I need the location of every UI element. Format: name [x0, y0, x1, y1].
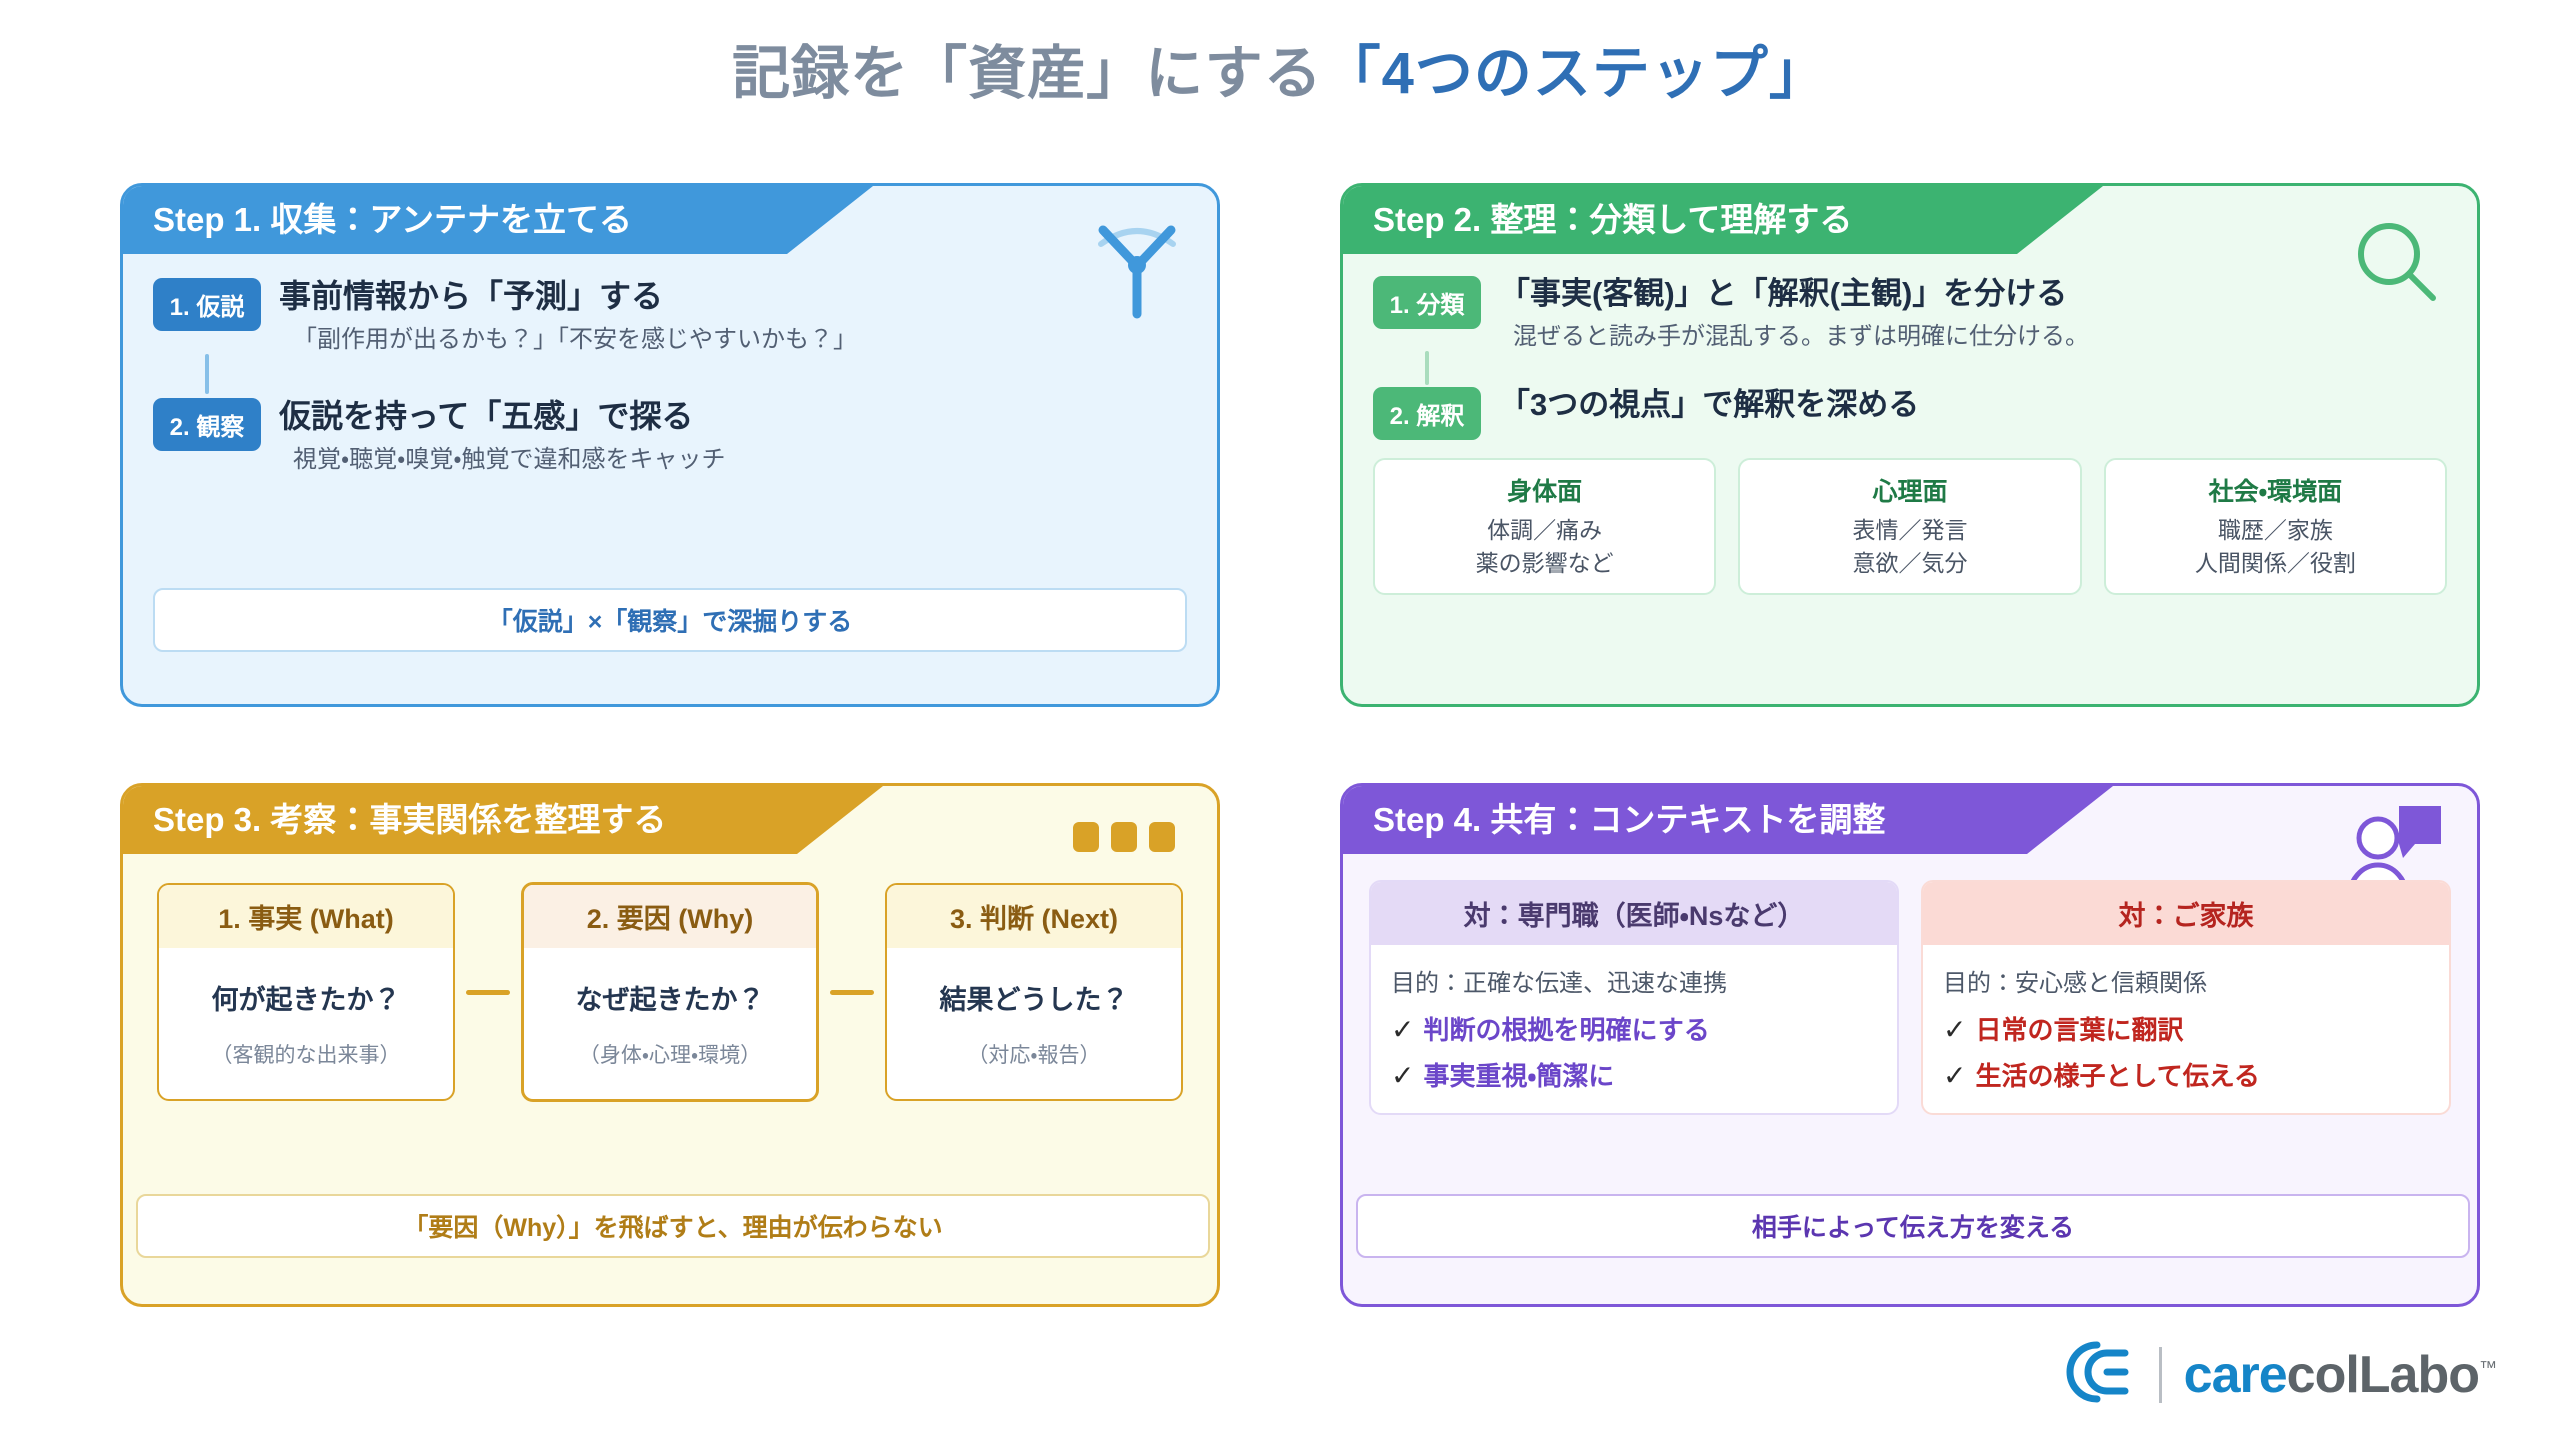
double-c-mark-icon	[2063, 1337, 2137, 1412]
perspective-line-1: 体調／痛み	[1381, 514, 1708, 547]
check-icon: ✓	[1391, 1013, 1414, 1046]
perspective-box-social: 社会・環境面 職歴／家族 人間関係／役割	[2104, 458, 2447, 595]
logo-divider	[2159, 1347, 2162, 1403]
page-title: 記録を「資産」にする「4つのステップ」	[0, 26, 2560, 110]
step-2-perspective-boxes: 身体面 体調／痛み 薬の影響など 心理面 表情／発言 意欲／気分 社会・環境面 …	[1373, 458, 2447, 595]
audience-body: 目的：安心感と信頼関係 ✓ 日常の言葉に翻訳 ✓ 生活の様子として伝える	[1923, 945, 2449, 1113]
audience-panel-family: 対：ご家族 目的：安心感と信頼関係 ✓ 日常の言葉に翻訳 ✓ 生活の様子として伝…	[1921, 880, 2451, 1115]
flow-body: 結果どうした？ （対応・報告）	[887, 948, 1181, 1099]
audience-panel-professional: 対：専門職（医師・Nsなど） 目的：正確な伝達、迅速な連携 ✓ 判断の根拠を明確…	[1369, 880, 1899, 1115]
audience-check-item: ✓ 生活の様子として伝える	[1943, 1056, 2429, 1093]
flow-title: 3. 判断 (Next)	[887, 885, 1181, 948]
step-4-panels: 対：専門職（医師・Nsなど） 目的：正確な伝達、迅速な連携 ✓ 判断の根拠を明確…	[1369, 880, 2451, 1115]
step-2-row-2: 2. 解釈 「3つの視点」で解釈を深める	[1373, 387, 2447, 440]
check-label: 日常の言葉に翻訳	[1975, 1010, 2183, 1047]
step-1-heading-2: 仮説を持って「五感」で探る	[279, 398, 725, 435]
step-1-text-2: 仮説を持って「五感」で探る 視覚・聴覚・嗅覚・触覚で違和感をキャッチ	[279, 398, 725, 474]
step-3-banner-title: Step 3. 考察：事実関係を整理する	[153, 786, 666, 854]
step-1-text-1: 事前情報から「予測」する 「副作用が出るかも？」「不安を感じやすいかも？」	[279, 278, 857, 354]
perspective-line-2: 人間関係／役割	[2112, 547, 2439, 580]
flow-main: なぜ起きたか？	[530, 978, 810, 1017]
perspective-title: 心理面	[1746, 472, 2073, 508]
flow-main: 結果どうした？	[893, 978, 1175, 1017]
step-4-cta[interactable]: 相手によって伝え方を変える	[1356, 1194, 2470, 1258]
step-4-banner-title: Step 4. 共有：コンテキストを調整	[1373, 786, 1885, 854]
step-card-3: Step 3. 考察：事実関係を整理する 1. 事実 (What) 何が起きたか…	[120, 783, 1220, 1307]
step-1-heading-1: 事前情報から「予測」する	[279, 278, 857, 315]
flow-box-fact: 1. 事実 (What) 何が起きたか？ （客観的な出来事）	[157, 883, 455, 1101]
audience-check-item: ✓ 判断の根拠を明確にする	[1391, 1010, 1877, 1047]
flow-title: 2. 要因 (Why)	[524, 885, 816, 948]
audience-title: 対：専門職（医師・Nsなど）	[1371, 882, 1897, 945]
brand-logo: carecolLabo™	[2063, 1337, 2496, 1412]
flow-sub: （対応・報告）	[893, 1039, 1175, 1069]
page-title-main: 記録を「資産」にする	[732, 41, 1323, 106]
flow-main: 何が起きたか？	[165, 978, 447, 1017]
perspective-box-mental: 心理面 表情／発言 意欲／気分	[1738, 458, 2081, 595]
step-1-badge-1: 1. 仮説	[153, 278, 261, 331]
perspective-line-1: 表情／発言	[1746, 514, 2073, 547]
step-1-sub-1: 「副作用が出るかも？」「不安を感じやすいかも？」	[279, 319, 857, 354]
step-2-text-2: 「3つの視点」で解釈を深める	[1499, 387, 1919, 423]
step-3-flow: 1. 事実 (What) 何が起きたか？ （客観的な出来事） 2. 要因 (Wh…	[157, 882, 1183, 1102]
check-label: 生活の様子として伝える	[1975, 1056, 2259, 1093]
square-1	[1073, 822, 1099, 852]
step-2-heading-2: 「3つの視点」で解釈を深める	[1499, 387, 1919, 423]
step-1-sub-2: 視覚・聴覚・嗅覚・触覚で違和感をキャッチ	[279, 439, 725, 474]
step-2-banner: Step 2. 整理：分類して理解する	[1343, 186, 2103, 254]
audience-body: 目的：正確な伝達、迅速な連携 ✓ 判断の根拠を明確にする ✓ 事実重視・簡潔に	[1371, 945, 1897, 1113]
logo-wordmark: carecolLabo™	[2184, 1345, 2496, 1405]
logo-word-collabo: colLabo	[2287, 1346, 2479, 1404]
page-title-accent: 「4つのステップ」	[1323, 41, 1828, 106]
step-3-body: 1. 事実 (What) 何が起きたか？ （客観的な出来事） 2. 要因 (Wh…	[123, 854, 1217, 1102]
flow-title: 1. 事実 (What)	[159, 885, 453, 948]
step-3-cta[interactable]: 「要因（Why）」を飛ばすと、理由が伝わらない	[136, 1194, 1210, 1258]
step-1-cta[interactable]: 「仮説」×「観察」で深掘りする	[153, 588, 1187, 652]
square-2	[1111, 822, 1137, 852]
flow-sub: （身体・心理・環境）	[530, 1039, 810, 1069]
logo-trademark: ™	[2479, 1357, 2496, 1377]
flow-connector-2	[830, 990, 874, 995]
step-card-1: Step 1. 収集：アンテナを立てる 1. 仮説 事前情報から「予測」する 「…	[120, 183, 1220, 707]
step-1-row-1: 1. 仮説 事前情報から「予測」する 「副作用が出るかも？」「不安を感じやすいか…	[153, 278, 1187, 354]
step-1-connector	[205, 354, 209, 394]
step-2-sub-1: 混ぜると読み手が混乱する。まずは明確に仕分ける。	[1499, 316, 2089, 351]
perspective-line-2: 意欲／気分	[1746, 547, 2073, 580]
step-1-banner: Step 1. 収集：アンテナを立てる	[123, 186, 873, 254]
step-2-connector	[1425, 351, 1429, 385]
three-squares-icon	[1073, 822, 1175, 852]
audience-purpose: 目的：正確な伝達、迅速な連携	[1391, 963, 1877, 998]
step-2-badge-2: 2. 解釈	[1373, 387, 1481, 440]
check-label: 事実重視・簡潔に	[1423, 1056, 1614, 1093]
step-1-banner-title: Step 1. 収集：アンテナを立てる	[153, 186, 632, 254]
perspective-title: 身体面	[1381, 472, 1708, 508]
check-icon: ✓	[1943, 1013, 1966, 1046]
audience-title: 対：ご家族	[1923, 882, 2449, 945]
flow-sub: （客観的な出来事）	[165, 1039, 447, 1069]
flow-box-judgement: 3. 判断 (Next) 結果どうした？ （対応・報告）	[885, 883, 1183, 1101]
flow-connector-1	[466, 990, 510, 995]
check-icon: ✓	[1943, 1059, 1966, 1092]
flow-box-cause: 2. 要因 (Why) なぜ起きたか？ （身体・心理・環境）	[521, 882, 819, 1102]
check-label: 判断の根拠を明確にする	[1423, 1010, 1709, 1047]
step-2-heading-1: 「事実(客観)」と「解釈(主観)」を分ける	[1499, 276, 2089, 312]
step-2-body: 1. 分類 「事実(客観)」と「解釈(主観)」を分ける 混ぜると読み手が混乱する…	[1343, 254, 2477, 595]
step-1-badge-2: 2. 観察	[153, 398, 261, 451]
audience-check-item: ✓ 日常の言葉に翻訳	[1943, 1010, 2429, 1047]
flow-body: 何が起きたか？ （客観的な出来事）	[159, 948, 453, 1099]
step-2-row-1: 1. 分類 「事実(客観)」と「解釈(主観)」を分ける 混ぜると読み手が混乱する…	[1373, 276, 2447, 351]
step-2-text-1: 「事実(客観)」と「解釈(主観)」を分ける 混ぜると読み手が混乱する。まずは明確…	[1499, 276, 2089, 351]
perspective-box-physical: 身体面 体調／痛み 薬の影響など	[1373, 458, 1716, 595]
step-1-row-2: 2. 観察 仮説を持って「五感」で探る 視覚・聴覚・嗅覚・触覚で違和感をキャッチ	[153, 398, 1187, 474]
check-icon: ✓	[1391, 1059, 1414, 1092]
step-card-4: Step 4. 共有：コンテキストを調整 対：専門職（医師・Nsなど） 目的：正…	[1340, 783, 2480, 1307]
audience-check-item: ✓ 事実重視・簡潔に	[1391, 1056, 1877, 1093]
square-3	[1149, 822, 1175, 852]
step-4-banner: Step 4. 共有：コンテキストを調整	[1343, 786, 2113, 854]
step-2-banner-title: Step 2. 整理：分類して理解する	[1373, 186, 1852, 254]
step-card-2: Step 2. 整理：分類して理解する 1. 分類 「事実(客観)」と「解釈(主…	[1340, 183, 2480, 707]
logo-word-care: care	[2184, 1346, 2287, 1404]
step-3-banner: Step 3. 考察：事実関係を整理する	[123, 786, 883, 854]
step-2-badge-1: 1. 分類	[1373, 276, 1481, 329]
step-1-body: 1. 仮説 事前情報から「予測」する 「副作用が出るかも？」「不安を感じやすいか…	[123, 254, 1217, 474]
flow-body: なぜ起きたか？ （身体・心理・環境）	[524, 948, 816, 1099]
perspective-title: 社会・環境面	[2112, 472, 2439, 508]
perspective-line-1: 職歴／家族	[2112, 514, 2439, 547]
audience-purpose: 目的：安心感と信頼関係	[1943, 963, 2429, 998]
perspective-line-2: 薬の影響など	[1381, 547, 1708, 580]
step-4-body: 対：専門職（医師・Nsなど） 目的：正確な伝達、迅速な連携 ✓ 判断の根拠を明確…	[1343, 854, 2477, 1115]
